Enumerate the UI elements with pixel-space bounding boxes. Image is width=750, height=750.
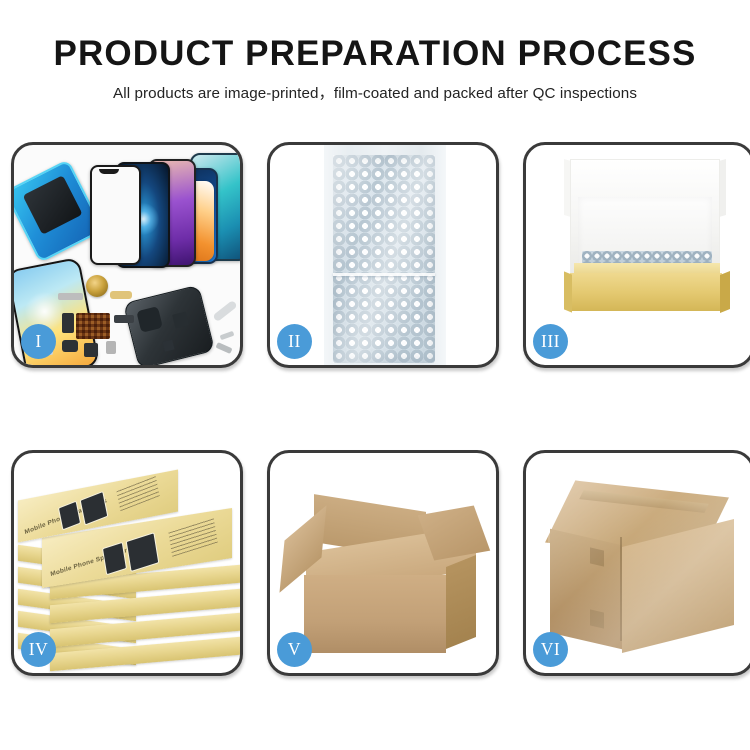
panel-sealed-carton[interactable]: VI (523, 450, 750, 676)
spare-part (58, 293, 83, 300)
front-glass-panel (90, 165, 141, 265)
carton-corner-seam (620, 537, 622, 641)
box-screen-art (80, 491, 109, 526)
carton-left-face (550, 529, 622, 650)
box-screen-art (126, 532, 160, 572)
bubble-wrap-texture (333, 155, 435, 363)
page-title: PRODUCT PREPARATION PROCESS (0, 34, 750, 74)
panel-inner-box[interactable]: III (523, 142, 750, 368)
panel-products[interactable]: I (11, 142, 243, 368)
spare-part (110, 291, 132, 299)
panel-bubble-wrap[interactable]: II (267, 142, 499, 368)
step-badge: IV (21, 632, 56, 667)
step-badge: VI (533, 632, 568, 667)
step-badge: II (277, 324, 312, 359)
spare-part (62, 340, 78, 352)
step-badge: I (21, 324, 56, 359)
header: PRODUCT PREPARATION PROCESS All products… (0, 34, 750, 103)
step-badge: V (277, 632, 312, 667)
process-step-grid: I II III (11, 142, 739, 676)
spare-part (62, 313, 74, 333)
product-preparation-infographic: PRODUCT PREPARATION PROCESS All products… (0, 0, 750, 750)
wrap-seam (333, 273, 435, 276)
coil-part-icon (86, 275, 108, 297)
phone-back-housing (123, 285, 215, 365)
panel-open-carton[interactable]: V (267, 450, 499, 676)
carton-front-face (304, 575, 446, 653)
box-spec-lines (116, 475, 159, 511)
spare-part (106, 341, 116, 354)
spare-part (212, 300, 237, 322)
carton-flap-notch (590, 547, 604, 566)
kraft-box-front (570, 273, 722, 311)
box-screen-art (102, 542, 127, 576)
spare-part (215, 342, 232, 354)
chip-grid-part (76, 313, 110, 339)
step-badge: III (533, 324, 568, 359)
spare-part (84, 343, 98, 357)
spare-part (114, 315, 134, 323)
page-subtitle: All products are image-printed，film-coat… (0, 81, 750, 103)
spare-part (220, 331, 235, 340)
box-spec-lines (168, 517, 218, 556)
box-screen-art (58, 501, 81, 531)
carton-side-face (446, 555, 476, 649)
carton-flap-notch (590, 609, 604, 628)
panel-stacked-boxes[interactable]: Mobile Phone Spare Parts Mobile Phone Sp… (11, 450, 243, 676)
